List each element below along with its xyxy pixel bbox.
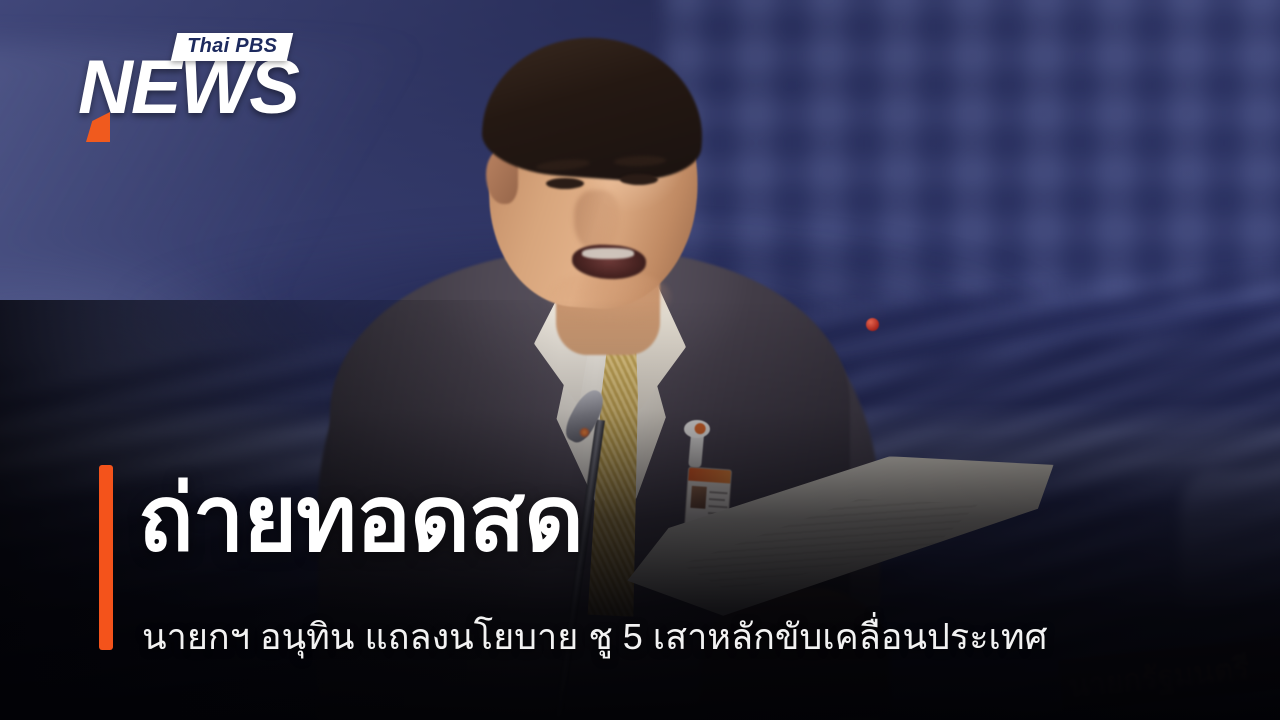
badge-text-line	[708, 505, 727, 508]
headline-live-broadcast: ถ่ายทอดสด	[138, 470, 583, 569]
broadcast-frame: นายกรัฐมนตรี NEWS Thai PBS ถ่ายทอดสด นาย…	[0, 0, 1280, 720]
logo-network-badge: Thai PBS	[171, 33, 294, 61]
hair	[479, 30, 708, 185]
badge-header-band	[688, 468, 731, 484]
subtitle-news-summary: นายกฯ อนุทิน แถลงนโยบาย ชู 5 เสาหลักขับเ…	[142, 614, 1047, 659]
logo-network-label: Thai PBS	[187, 36, 277, 57]
nose	[574, 190, 620, 252]
teeth	[582, 248, 634, 259]
lapel-pin-icon	[866, 318, 879, 331]
logo-wordmark-news: NEWS	[78, 50, 298, 126]
eye-right	[620, 174, 658, 185]
accent-bar	[99, 465, 113, 650]
badge-photo	[690, 486, 706, 509]
badge-text-line	[709, 498, 725, 501]
badge-text-line	[709, 491, 727, 494]
thaipbs-news-logo: NEWS Thai PBS	[78, 22, 318, 134]
eye-left	[546, 178, 584, 189]
badge-clip-top	[684, 420, 710, 438]
microphone-indicator-light	[580, 428, 589, 437]
